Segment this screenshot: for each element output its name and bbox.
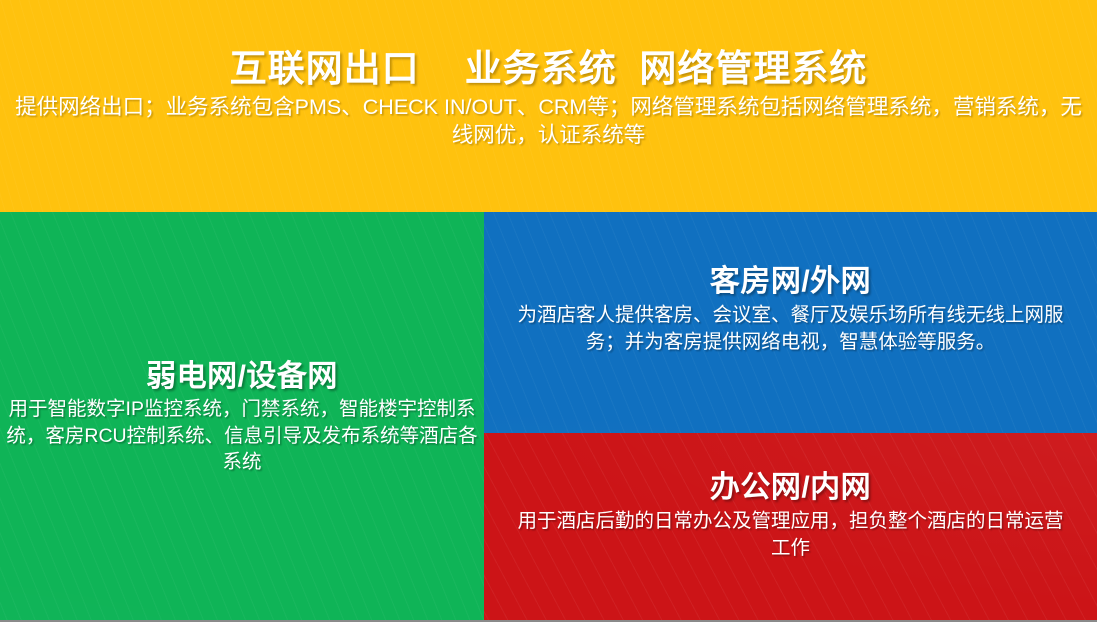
header-panel-internet-exit: 互联网出口 业务系统 网络管理系统 提供网络出口；业务系统包含PMS、CHECK… [0,0,1097,212]
green-panel-title: 弱电网/设备网 [0,359,484,395]
green-panel-description: 用于智能数字IP监控系统，门禁系统，智能楼宇控制系统，客房RCU控制系统、信息引… [0,395,484,476]
header-title: 互联网出口 业务系统 网络管理系统 [0,48,1097,91]
header-description: 提供网络出口；业务系统包含PMS、CHECK IN/OUT、CRM等；网络管理系… [0,91,1097,150]
red-panel-description: 用于酒店后勤的日常办公及管理应用，担负整个酒店的日常运营工作 [484,506,1097,561]
red-panel-title: 办公网/内网 [484,470,1097,506]
blue-panel-description: 为酒店客人提供客房、会议室、餐厅及娱乐场所有线无线上网服务；并为客房提供网络电视… [484,300,1097,355]
panel-weak-current-network: 弱电网/设备网 用于智能数字IP监控系统，门禁系统，智能楼宇控制系统，客房RCU… [0,212,484,620]
panel-guestroom-external-network: 客房网/外网 为酒店客人提供客房、会议室、餐厅及娱乐场所有线无线上网服务；并为客… [484,212,1097,433]
network-architecture-slide: 互联网出口 业务系统 网络管理系统 提供网络出口；业务系统包含PMS、CHECK… [0,0,1097,622]
panel-office-internal-network: 办公网/内网 用于酒店后勤的日常办公及管理应用，担负整个酒店的日常运营工作 [484,433,1097,620]
blue-panel-title: 客房网/外网 [484,264,1097,300]
